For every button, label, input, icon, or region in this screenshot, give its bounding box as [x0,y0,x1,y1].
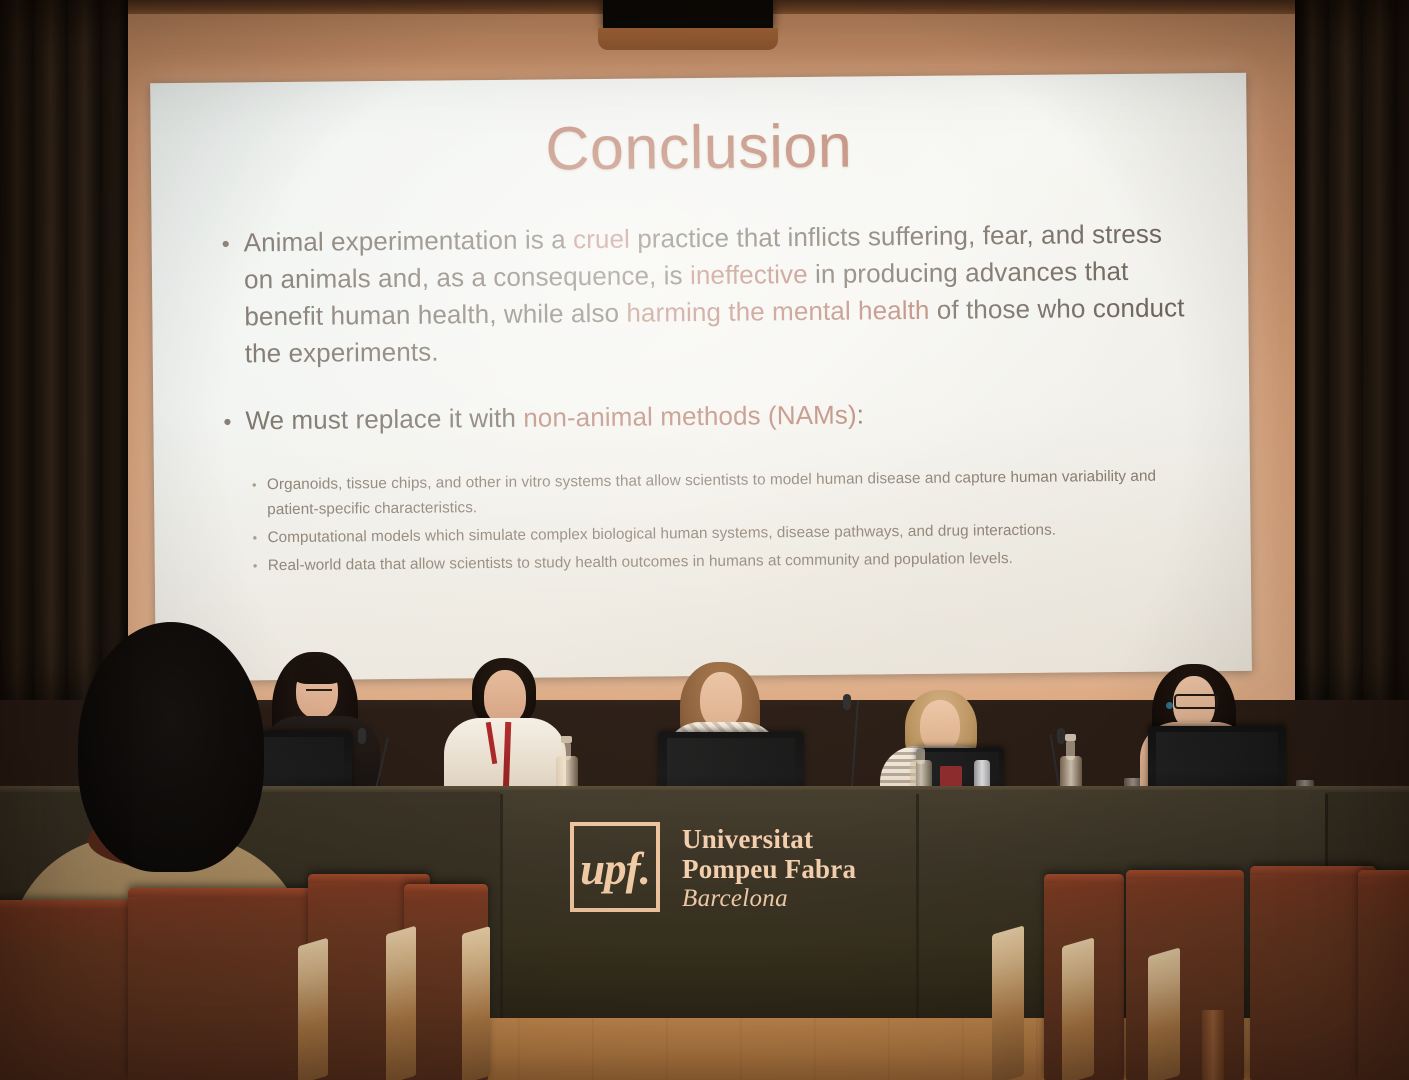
microphone-head-3 [1057,728,1065,744]
microphone-head-1 [358,728,366,744]
bullet-plain: : [857,399,865,429]
curtain-right [1295,0,1409,700]
water-bottle-1-neck [562,742,571,760]
seat-armrest-left-2 [386,926,416,1080]
bullet-text: We must replace it with non-animal metho… [245,393,1197,440]
bullet-plain: We must replace it with [245,403,523,436]
panelist-5-glasses [1174,694,1218,709]
water-bottle-2-neck [916,748,925,764]
slide-sub-bullets: •Organoids, tissue chips, and other in v… [252,463,1195,581]
projection-screen: Conclusion • Animal experimentation is a… [150,73,1252,681]
panelist-4-head [920,700,960,752]
upf-logo: upf. Universitat Pompeu Fabra Barcelona [570,822,856,914]
seat-armrest-left-1 [298,938,328,1080]
seat-armrest-left-3 [462,926,490,1080]
slide-title: Conclusion [150,107,1247,188]
bullet-highlight: cruel [573,224,630,255]
upf-logo-line-3: Barcelona [682,884,856,914]
audience-member-hair [78,622,264,872]
sub-bullet-text: Real-world data that allow scientists to… [268,544,1195,578]
panelist-1-hair-front [292,656,344,684]
bullet-item: • Animal experimentation is a cruel prac… [222,215,1197,372]
water-bottle-3-neck [1066,740,1075,760]
seat-rim [1358,870,1409,879]
audience-seat-right-4 [1358,870,1409,1080]
sub-bullet-item: •Real-world data that allow scientists t… [253,544,1195,578]
microphone-head-2 [843,694,851,710]
desk-panel-seam-left [500,794,503,1020]
bullet-item: • We must replace it with non-animal met… [223,393,1197,440]
projection-booth-window [603,0,773,30]
seat-rim [308,874,430,883]
bullet-marker: • [223,402,245,440]
bullet-plain: Animal experimentation is a [244,224,574,257]
panelist-5-earring [1166,702,1173,709]
water-bottle-3-cap [1065,734,1076,741]
panelist-2-head [484,670,526,724]
projection-booth-shelf [598,28,778,50]
sub-bullet-marker: • [252,525,267,550]
audience-seat-right-2 [1126,870,1244,1080]
upf-logo-mark-text: upf. [580,847,650,892]
seat-rim [128,888,336,897]
seat-rim [1126,870,1244,879]
bullet-highlight: non-animal methods (NAMs) [523,400,857,433]
seat-armrest-right-2 [1062,937,1094,1080]
upf-logo-line-1: Universitat [682,824,856,854]
seat-armrest-post-right [1202,1010,1224,1080]
seat-rim [1044,874,1124,883]
bullet-text: Animal experimentation is a cruel practi… [244,215,1197,372]
curtain-left [0,0,128,700]
bullet-highlight: ineffective [690,259,808,290]
upf-logo-wordmark: Universitat Pompeu Fabra Barcelona [682,822,856,914]
seat-rim [404,884,488,893]
panelist-3-head [700,672,742,728]
water-bottle-1-cap [561,736,572,743]
sub-bullet-marker: • [252,472,267,522]
panelist-1-glasses [306,689,332,697]
presentation-slide: Conclusion • Animal experimentation is a… [150,73,1252,681]
sub-bullet-text: Organoids, tissue chips, and other in vi… [267,463,1194,522]
bullet-marker: • [222,224,245,372]
seat-armrest-right-1 [992,925,1024,1080]
auditorium-photo: Conclusion • Animal experimentation is a… [0,0,1409,1080]
seat-rim [0,900,132,909]
desk-panel-seam-right [916,794,919,1020]
audience-seat-left-1 [0,900,132,1080]
upf-logo-mark: upf. [570,822,660,912]
seat-armrest-right-3 [1148,947,1180,1080]
slide-main-bullets: • Animal experimentation is a cruel prac… [222,215,1198,444]
sub-bullet-item: •Organoids, tissue chips, and other in v… [252,463,1194,522]
upf-logo-line-2: Pompeu Fabra [682,854,856,884]
bullet-highlight: harming the mental health [626,295,929,328]
sub-bullet-marker: • [253,553,268,578]
